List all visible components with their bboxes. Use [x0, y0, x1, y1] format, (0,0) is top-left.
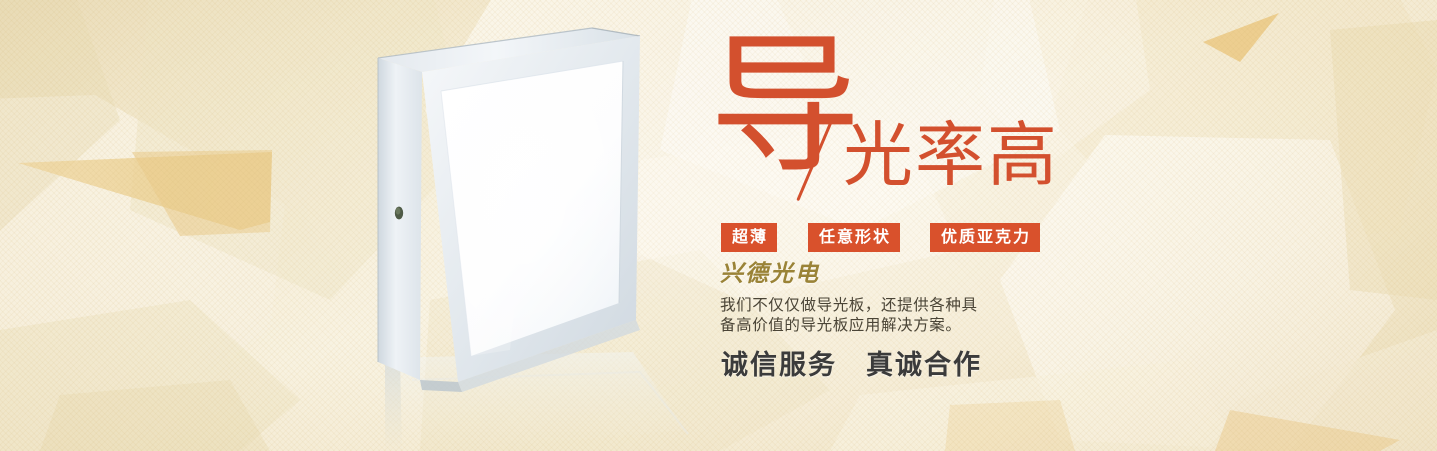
badge-premium-acrylic: 优质亚克力: [930, 223, 1040, 252]
product-image: [340, 10, 740, 451]
description-text: 我们不仅仅做导光板，还提供各种具 备高价值的导光板应用解决方案。: [720, 295, 1012, 335]
headline-main-char: 导: [709, 30, 861, 182]
description-line-1: 我们不仅仅做导光板，还提供各种具: [720, 295, 1012, 315]
tagline: 诚信服务 真诚合作: [721, 352, 982, 379]
badge-ultra-thin: 超薄: [721, 223, 777, 252]
led-panel-light-illustration: [340, 10, 740, 451]
headline: 导 光率高: [709, 36, 1329, 212]
promo-banner: 导 光率高 超薄 任意形状 优质亚克力 兴德光电 我们不仅仅做导光板，还提供各种…: [0, 0, 1437, 451]
badge-any-shape: 任意形状: [808, 223, 900, 252]
copy-block: 导 光率高 超薄 任意形状 优质亚克力 兴德光电 我们不仅仅做导光板，还提供各种…: [709, 36, 1329, 416]
description-line-2: 备高价值的导光板应用解决方案。: [720, 315, 1012, 335]
brand-name: 兴德光电: [720, 262, 820, 285]
product-reflection: [385, 352, 688, 451]
headline-sub-text: 光率高: [843, 120, 1059, 190]
feature-badges: 超薄 任意形状 优质亚克力: [721, 223, 1040, 252]
